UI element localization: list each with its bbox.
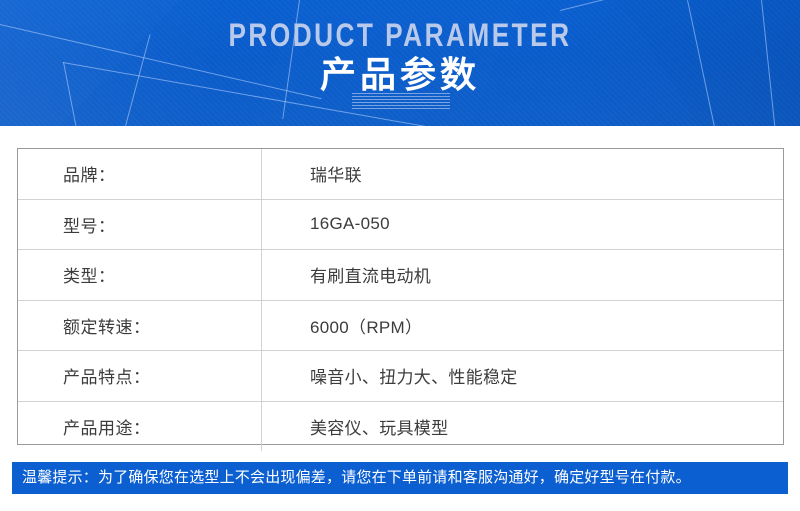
spec-label: 额定转速： <box>18 300 262 351</box>
spec-label: 类型： <box>18 250 262 301</box>
spec-value: 16GA-050 <box>262 199 784 250</box>
spec-value: 有刷直流电动机 <box>262 250 784 301</box>
banner-title-chinese: 产品参数 <box>0 54 800 96</box>
table-row: 类型： 有刷直流电动机 <box>18 250 783 301</box>
spec-label: 型号： <box>18 199 262 250</box>
banner-diagonal-5 <box>560 0 800 11</box>
spec-label: 产品特点： <box>18 351 262 402</box>
product-parameter-page: PRODUCT PARAMETER 产品参数 品牌： 瑞华联 型号： 16GA-… <box>0 0 800 511</box>
spec-value: 瑞华联 <box>262 149 784 199</box>
banner-stripe-decor <box>352 93 450 111</box>
spec-value: 6000（RPM） <box>262 300 784 351</box>
warm-tip-banner: 温馨提示：为了确保您在选型上不会出现偏差，请您在下单前请和客服沟通好，确定好型号… <box>12 462 788 494</box>
spec-value: 噪音小、扭力大、性能稳定 <box>262 351 784 402</box>
spec-label: 品牌： <box>18 149 262 199</box>
table-row: 品牌： 瑞华联 <box>18 149 783 199</box>
spec-label: 产品用途： <box>18 401 262 451</box>
table-row: 额定转速： 6000（RPM） <box>18 300 783 351</box>
table-row: 产品用途： 美容仪、玩具模型 <box>18 401 783 451</box>
table-row: 产品特点： 噪音小、扭力大、性能稳定 <box>18 351 783 402</box>
warm-tip-text: 温馨提示：为了确保您在选型上不会出现偏差，请您在下单前请和客服沟通好，确定好型号… <box>22 468 691 488</box>
specification-table: 品牌： 瑞华联 型号： 16GA-050 类型： 有刷直流电动机 额定转速： 6… <box>17 148 784 445</box>
spec-value: 美容仪、玩具模型 <box>262 401 784 451</box>
banner-title-english: PRODUCT PARAMETER <box>72 17 728 53</box>
table-row: 型号： 16GA-050 <box>18 199 783 250</box>
header-banner: PRODUCT PARAMETER 产品参数 <box>0 0 800 126</box>
